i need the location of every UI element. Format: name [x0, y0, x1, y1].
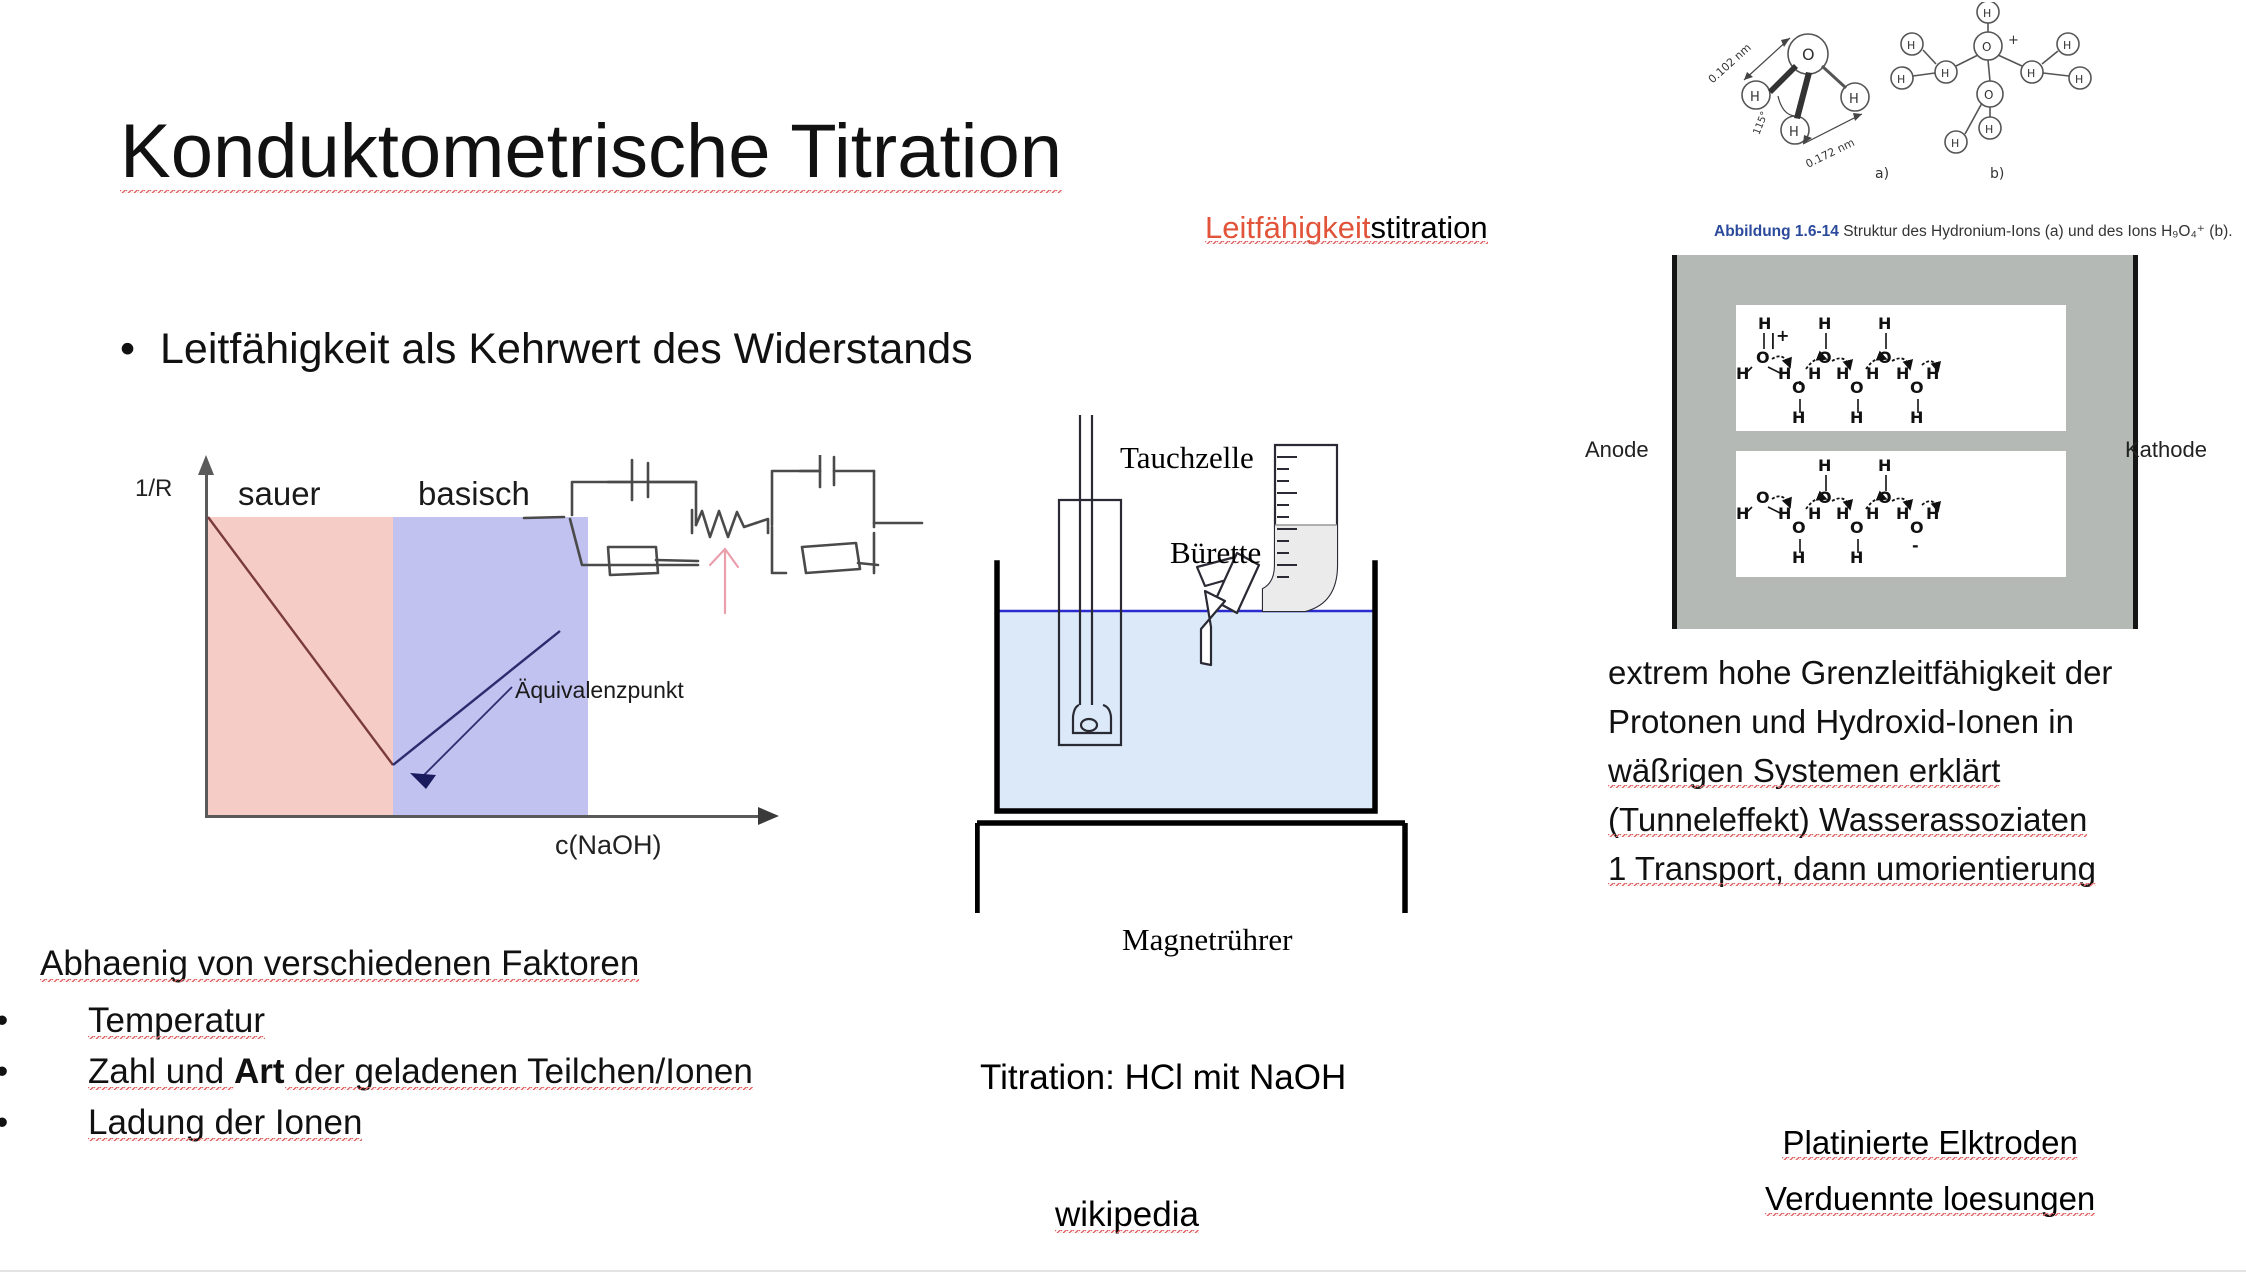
svg-text:H: H	[2027, 67, 2035, 80]
bullet-dot-icon: •	[42, 995, 88, 1046]
grotthuss-anode-label: Anode	[1585, 437, 1649, 463]
bullet-dot-icon: •	[120, 325, 160, 374]
factors-item-1-post: der geladenen Teilchen/Ionen	[285, 1052, 753, 1091]
svg-text:H: H	[1897, 73, 1905, 86]
svg-text:+: +	[1776, 326, 1789, 345]
svg-text:115°: 115°	[1752, 110, 1771, 136]
beaker-liquid	[997, 611, 1375, 811]
svg-text:O: O	[1818, 488, 1832, 507]
svg-text:H: H	[1896, 504, 1909, 523]
chart-annotation-equivalence-point: Äquivalenzpunkt	[515, 677, 684, 704]
svg-text:H: H	[1836, 504, 1849, 523]
svg-text:|: |	[1770, 330, 1776, 350]
right-text-line-5: 1 Transport, dann umorientierung	[1608, 850, 2096, 887]
svg-text:+: +	[2008, 33, 2019, 48]
svg-text:O: O	[1802, 45, 1815, 64]
lead-bullet: •Leitfähigkeit als Kehrwert des Widersta…	[120, 325, 973, 374]
svg-text:O: O	[1850, 378, 1864, 397]
subtitle: Leitfähigkeitstitration	[1205, 210, 1488, 246]
svg-text:H: H	[1818, 456, 1831, 475]
bullet-dot-icon: •	[42, 1046, 88, 1097]
svg-text:H: H	[1951, 137, 1959, 150]
svg-text:H: H	[1736, 504, 1749, 523]
svg-text:O: O	[1878, 348, 1892, 367]
right-bottom-line-2: Verduennte loesungen	[1765, 1180, 2095, 1217]
svg-text:0.102 nm: 0.102 nm	[1706, 41, 1754, 86]
svg-text:O: O	[1818, 348, 1832, 367]
svg-text:H: H	[1985, 123, 1993, 136]
svg-text:H: H	[1789, 125, 1799, 140]
svg-text:O: O	[1792, 518, 1806, 537]
right-text-line-3: wäßrigen Systemen erklärt	[1608, 752, 2000, 789]
apparatus-source: wikipedia	[1055, 1195, 1199, 1235]
svg-text:H: H	[1907, 39, 1915, 52]
right-bottom-notes: Platinierte Elktroden Verduennte loesung…	[1765, 1115, 2095, 1227]
page-title-text: Konduktometrische Titration	[120, 109, 1062, 194]
svg-text:H: H	[1778, 364, 1791, 383]
apparatus-caption: Titration: HCl mit NaOH	[980, 1058, 1346, 1098]
grotthuss-kathode-label: Kathode	[2125, 437, 2207, 463]
molecule-label-a: a)	[1875, 166, 1889, 182]
x-axis-arrow-icon	[758, 807, 779, 825]
svg-text:H: H	[1910, 408, 1923, 427]
chart-line-acid	[208, 517, 393, 765]
svg-text:H: H	[1750, 90, 1760, 105]
svg-text:H: H	[1896, 364, 1909, 383]
right-text-line-1: extrem hohe Grenzleitfähigkeit der	[1608, 648, 2112, 697]
right-text-line-4: (Tunneleffekt) Wasserassoziaten	[1608, 801, 2087, 838]
svg-text:O: O	[1756, 488, 1770, 507]
svg-text:-: -	[1912, 536, 1919, 555]
svg-text:H: H	[1983, 7, 1991, 20]
svg-text:O: O	[1910, 378, 1924, 397]
subtitle-highlight: Leitfähigkeit	[1205, 210, 1370, 245]
svg-text:O: O	[1984, 88, 1993, 102]
figure-caption-number: Abbildung 1.6-14	[1714, 223, 1839, 240]
list-item: •Temperatur	[88, 995, 753, 1046]
bullet-dot-icon: •	[42, 1097, 88, 1148]
right-explanation-text: extrem hohe Grenzleitfähigkeit der Proto…	[1608, 648, 2112, 893]
figure-caption-text: Struktur des Hydronium-Ions (a) und des …	[1843, 223, 2232, 240]
chart-annotation-arrowhead-icon	[410, 773, 436, 789]
svg-text:H: H	[1849, 92, 1859, 107]
hydronium-structure-figure: O H H H 0.102 nm 0.172 nm 115° O H H H +…	[1690, 2, 2110, 187]
svg-text:H: H	[1878, 456, 1891, 475]
apparatus-source-text: wikipedia	[1055, 1195, 1199, 1234]
svg-text:H: H	[2075, 73, 2083, 86]
svg-text:H: H	[2063, 39, 2071, 52]
svg-text:H: H	[1836, 364, 1849, 383]
factors-item-0: Temperatur	[88, 1001, 265, 1040]
list-item: •Ladung der Ionen	[88, 1097, 753, 1148]
svg-text:O: O	[1982, 40, 1991, 54]
svg-text:O: O	[1910, 518, 1924, 537]
factors-list: Abhaenig von verschiedenen Faktoren •Tem…	[40, 938, 753, 1148]
svg-text:H: H	[1850, 408, 1863, 427]
titration-apparatus-diagram	[975, 415, 1435, 955]
svg-text:H: H	[1850, 548, 1863, 567]
factors-item-1-pre: Zahl und	[88, 1052, 234, 1091]
molecule-label-b: b)	[1990, 166, 2004, 182]
svg-text:H: H	[1941, 67, 1949, 80]
factors-item-1-bold: Art	[234, 1052, 285, 1091]
svg-text:H: H	[1878, 314, 1891, 333]
svg-text:O: O	[1850, 518, 1864, 537]
lead-bullet-text: Leitfähigkeit als Kehrwert des Widerstan…	[160, 325, 973, 373]
right-bottom-line-1: Platinierte Elktroden	[1782, 1124, 2077, 1161]
factors-header-text: Abhaenig von verschiedenen Faktoren	[40, 944, 639, 983]
hand-drawn-circuit-sketch	[520, 455, 940, 635]
grotthuss-mechanism-diagram: H|+ O HH OH H OH H OH H OH H OH H O HH	[1660, 253, 2145, 633]
list-item: •Zahl und Art der geladenen Teilchen/Ion…	[88, 1046, 753, 1097]
svg-text:O: O	[1878, 488, 1892, 507]
figure-caption: Abbildung 1.6-14 Struktur des Hydronium-…	[1714, 222, 2233, 241]
svg-text:O: O	[1792, 378, 1806, 397]
apparatus-label-cell: Tauchzelle	[1120, 440, 1254, 476]
factors-item-2: Ladung der Ionen	[88, 1103, 362, 1142]
svg-text:H: H	[1926, 364, 1939, 383]
svg-text:H: H	[1792, 408, 1805, 427]
svg-text:0.172 nm: 0.172 nm	[1804, 136, 1857, 171]
svg-text:H: H	[1818, 314, 1831, 333]
right-text-line-2: Protonen und Hydroxid-Ionen in	[1608, 697, 2112, 746]
page-title: Konduktometrische Titration	[120, 108, 1062, 195]
svg-text:H: H	[1926, 504, 1939, 523]
svg-text:H: H	[1778, 504, 1791, 523]
subtitle-rest: stitration	[1370, 210, 1487, 245]
apparatus-caption-text: Titration: HCl mit NaOH	[980, 1058, 1346, 1097]
anode-plate	[1672, 255, 1677, 629]
svg-text:H: H	[1792, 548, 1805, 567]
apparatus-label-burette: Bürette	[1170, 535, 1261, 571]
factors-header: Abhaenig von verschiedenen Faktoren	[40, 938, 753, 989]
apparatus-label-stirrer: Magnetrührer	[1122, 922, 1292, 958]
svg-text:H: H	[1736, 364, 1749, 383]
svg-text:O: O	[1756, 348, 1770, 367]
